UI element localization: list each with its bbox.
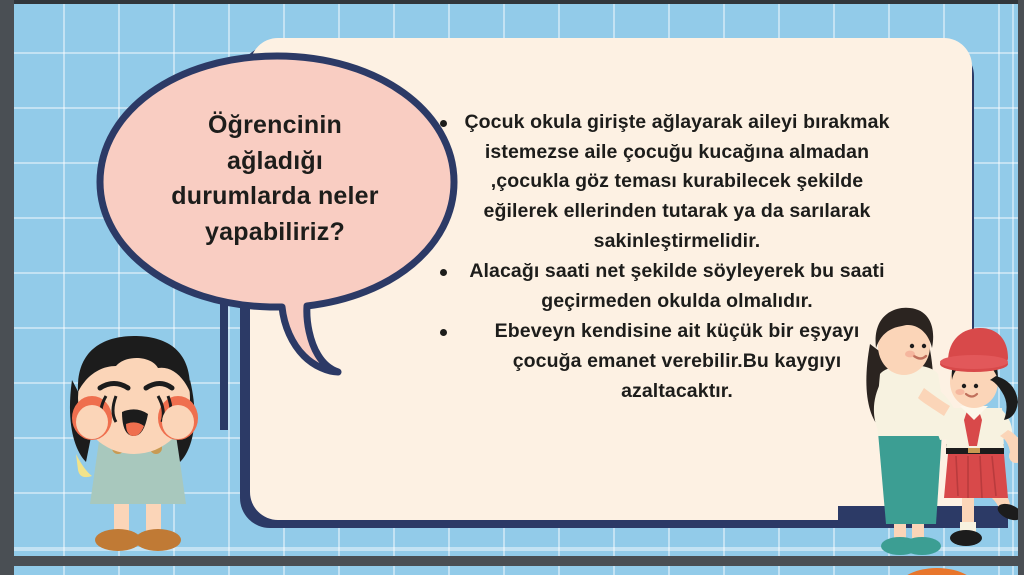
- bubble-line: ağladığı: [114, 144, 436, 180]
- presentation-viewport: Çocuk okula girişte ağlayarak aileyi bır…: [0, 0, 1024, 575]
- bubble-line: durumlarda neler: [114, 179, 436, 215]
- list-item: Alacağı saati net şekilde söyleyerek bu …: [434, 257, 894, 316]
- bullet-list: Çocuk okula girişte ağlayarak aileyi bır…: [434, 108, 894, 407]
- mother-and-schoolgirl-illustration: [856, 304, 1018, 556]
- left-margin: [0, 0, 14, 575]
- bullet-text: Ebeveyn kendisine ait küçük bir eşyayı ç…: [495, 320, 860, 401]
- slide-gap: [0, 556, 1024, 566]
- bullet-text: Alacağı saati net şekilde söyleyerek bu …: [469, 260, 884, 312]
- list-item: Ebeveyn kendisine ait küçük bir eşyayı ç…: [434, 317, 894, 406]
- crying-girl-illustration: [30, 326, 242, 556]
- slide-next-preview[interactable]: [14, 566, 1018, 575]
- bullet-text: Çocuk okula girişte ağlayarak aileyi bır…: [464, 111, 889, 252]
- bubble-line: Öğrencinin: [114, 108, 436, 144]
- slide-current[interactable]: Çocuk okula girişte ağlayarak aileyi bır…: [14, 4, 1018, 556]
- right-margin: [1018, 0, 1024, 575]
- list-item: Çocuk okula girişte ağlayarak aileyi bır…: [434, 108, 894, 256]
- grid-background: [14, 566, 1018, 575]
- top-edge: [0, 0, 1024, 4]
- bubble-line: yapabiliriz?: [114, 215, 436, 251]
- speech-bubble-text: Öğrencinin ağladığı durumlarda neler yap…: [114, 108, 436, 250]
